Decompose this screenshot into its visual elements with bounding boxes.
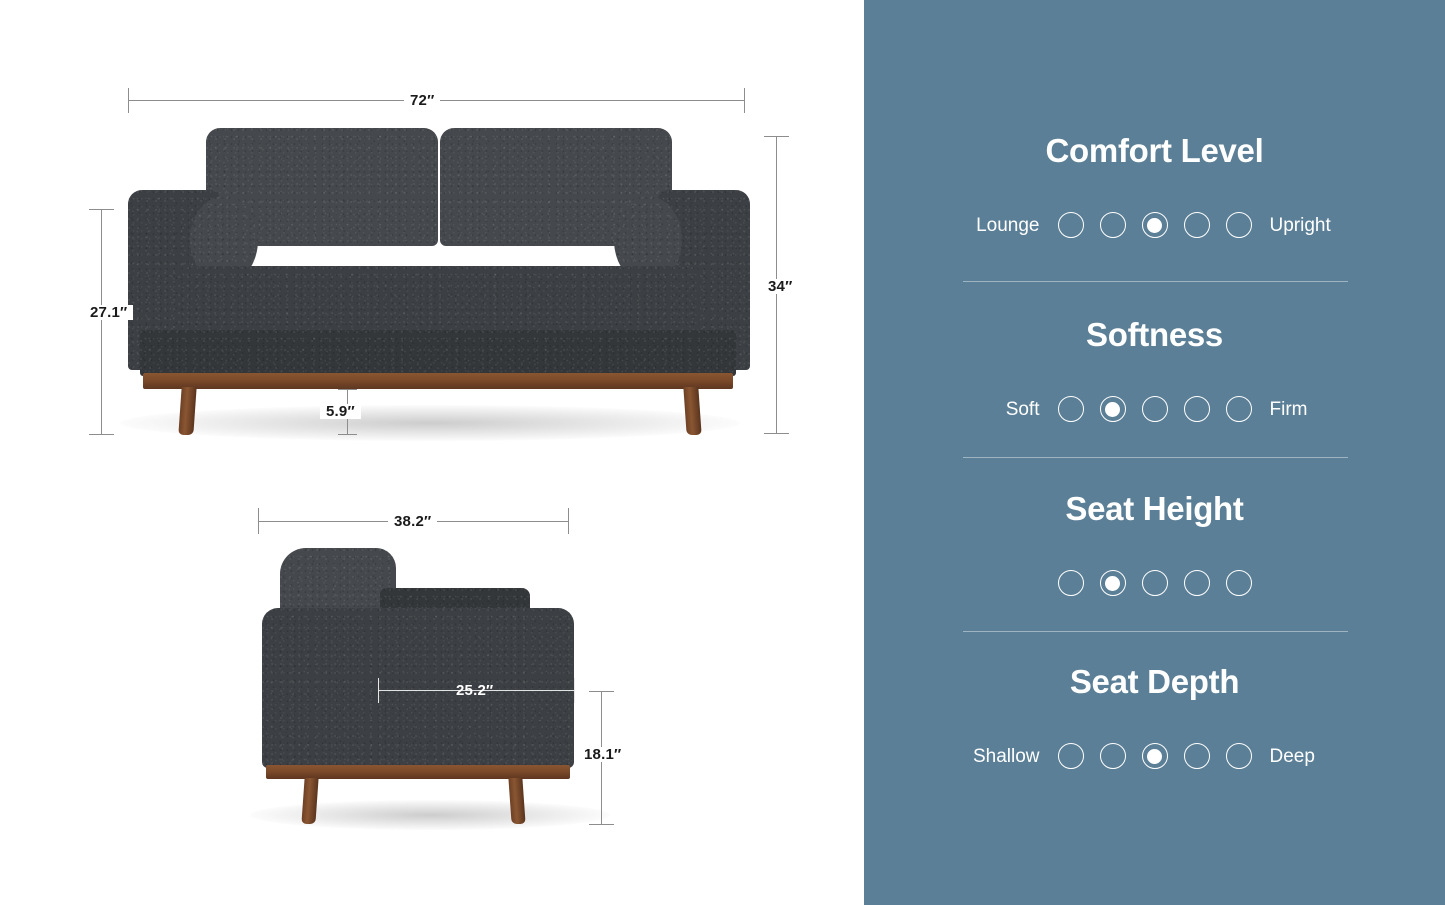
front-width-label: 72″ — [404, 93, 440, 108]
spec-scale-seat-height — [864, 570, 1445, 596]
dimension-diagram-panel: 72″ 27.1″ 34″ 5.9″ — [0, 0, 864, 905]
spec-dot-comfort-level-3[interactable] — [1142, 212, 1168, 238]
spec-dot-fill — [1231, 749, 1246, 764]
spec-dot-comfort-level-4[interactable] — [1184, 212, 1210, 238]
seat-height-label: 18.1″ — [578, 747, 627, 762]
side-depth-cap-left — [258, 508, 259, 534]
back-height-cap-bottom — [89, 434, 114, 435]
spec-dot-softness-5[interactable] — [1226, 396, 1252, 422]
spec-scale-seat-depth: Shallow Deep — [864, 743, 1445, 769]
spec-title-comfort-level: Comfort Level — [864, 134, 1445, 167]
seat-frame — [140, 330, 736, 376]
spec-dot-seat-depth-3[interactable] — [1142, 743, 1168, 769]
spec-dot-seat-height-1[interactable] — [1058, 570, 1084, 596]
spec-dot-softness-4[interactable] — [1184, 396, 1210, 422]
spec-scale-softness: Soft Firm — [864, 396, 1445, 422]
spec-left-label-comfort-level: Lounge — [923, 216, 1058, 235]
spec-dot-seat-height-4[interactable] — [1184, 570, 1210, 596]
spec-dot-comfort-level-5[interactable] — [1226, 212, 1252, 238]
spec-title-seat-depth: Seat Depth — [864, 665, 1445, 698]
spec-dot-fill — [1105, 749, 1120, 764]
spec-dot-fill — [1063, 218, 1078, 233]
spec-dot-fill — [1189, 402, 1204, 417]
spec-dot-fill — [1189, 749, 1204, 764]
spec-dot-fill — [1189, 576, 1204, 591]
spec-dot-seat-height-5[interactable] — [1226, 570, 1252, 596]
seat-depth-label: 25.2″ — [450, 683, 499, 698]
spec-dot-comfort-level-2[interactable] — [1100, 212, 1126, 238]
spec-dots-softness — [1058, 396, 1252, 422]
spec-dots-seat-height — [1058, 570, 1252, 596]
overall-height-label: 34″ — [762, 279, 798, 294]
spec-dot-seat-depth-5[interactable] — [1226, 743, 1252, 769]
front-view-floor-shadow — [120, 405, 740, 441]
spec-dot-softness-2[interactable] — [1100, 396, 1126, 422]
spec-divider-2 — [963, 457, 1348, 458]
spec-dot-fill — [1105, 218, 1120, 233]
side-depth-cap-right — [568, 508, 569, 534]
spec-dot-fill — [1063, 576, 1078, 591]
spec-dot-fill — [1063, 402, 1078, 417]
back-height-rule — [101, 209, 102, 435]
spec-group-seat-depth: Seat Depth Shallow Deep — [864, 665, 1445, 769]
spec-dot-softness-3[interactable] — [1142, 396, 1168, 422]
back-height-cap-top — [89, 209, 114, 210]
product-spec-sheet: 72″ 27.1″ 34″ 5.9″ — [0, 0, 1445, 905]
spec-right-label-softness: Firm — [1252, 400, 1387, 419]
spec-right-label-comfort-level: Upright — [1252, 216, 1387, 235]
spec-dot-fill — [1231, 576, 1246, 591]
spec-dots-seat-depth — [1058, 743, 1252, 769]
spec-dot-fill — [1105, 576, 1120, 591]
spec-group-comfort-level: Comfort Level Lounge Upright — [864, 134, 1445, 238]
spec-title-seat-height: Seat Height — [864, 492, 1445, 525]
side-arm-panel — [262, 608, 574, 768]
spec-dot-softness-1[interactable] — [1058, 396, 1084, 422]
spec-title-softness: Softness — [864, 318, 1445, 351]
overall-height-cap-top — [764, 136, 789, 137]
seat-depth-cap-right — [574, 678, 575, 703]
leg-side-back — [508, 778, 525, 824]
spec-dots-comfort-level — [1058, 212, 1252, 238]
overall-height-cap-bottom — [764, 433, 789, 434]
leg-clearance-cap-bottom — [338, 434, 357, 435]
spec-dot-fill — [1147, 749, 1162, 764]
spec-dot-seat-depth-2[interactable] — [1100, 743, 1126, 769]
spec-group-seat-height: Seat Height — [864, 492, 1445, 596]
seat-cushion — [178, 266, 700, 338]
spec-dot-fill — [1189, 218, 1204, 233]
spec-dot-seat-depth-1[interactable] — [1058, 743, 1084, 769]
spec-dot-comfort-level-1[interactable] — [1058, 212, 1084, 238]
spec-dot-seat-height-2[interactable] — [1100, 570, 1126, 596]
leg-clearance-label: 5.9″ — [320, 404, 361, 419]
comfort-spec-panel: Comfort Level Lounge Upright Softness So… — [864, 0, 1445, 905]
wood-base-rail — [143, 373, 733, 389]
spec-dot-fill — [1147, 218, 1162, 233]
seat-height-cap-bottom — [589, 824, 614, 825]
spec-group-softness: Softness Soft Firm — [864, 318, 1445, 422]
spec-left-label-softness: Soft — [923, 400, 1058, 419]
spec-scale-comfort-level: Lounge Upright — [864, 212, 1445, 238]
spec-right-label-seat-depth: Deep — [1252, 747, 1387, 766]
seat-height-cap-top — [589, 691, 614, 692]
spec-dot-fill — [1147, 402, 1162, 417]
width-rule-cap-right — [744, 88, 745, 113]
spec-dot-fill — [1105, 402, 1120, 417]
spec-dot-fill — [1063, 749, 1078, 764]
leg-clearance-cap-top — [338, 389, 357, 390]
spec-dot-fill — [1231, 218, 1246, 233]
side-wood-base-rail — [266, 765, 570, 779]
spec-left-label-seat-depth: Shallow — [923, 747, 1058, 766]
spec-divider-3 — [963, 631, 1348, 632]
spec-dot-fill — [1147, 576, 1162, 591]
back-height-label: 27.1″ — [84, 305, 133, 320]
spec-dot-seat-depth-4[interactable] — [1184, 743, 1210, 769]
spec-dot-fill — [1231, 402, 1246, 417]
spec-divider-1 — [963, 281, 1348, 282]
leg-front-right — [683, 387, 701, 435]
width-rule-cap-left — [128, 88, 129, 113]
side-depth-label: 38.2″ — [388, 514, 437, 529]
seat-depth-cap-left — [378, 678, 379, 703]
spec-dot-seat-height-3[interactable] — [1142, 570, 1168, 596]
